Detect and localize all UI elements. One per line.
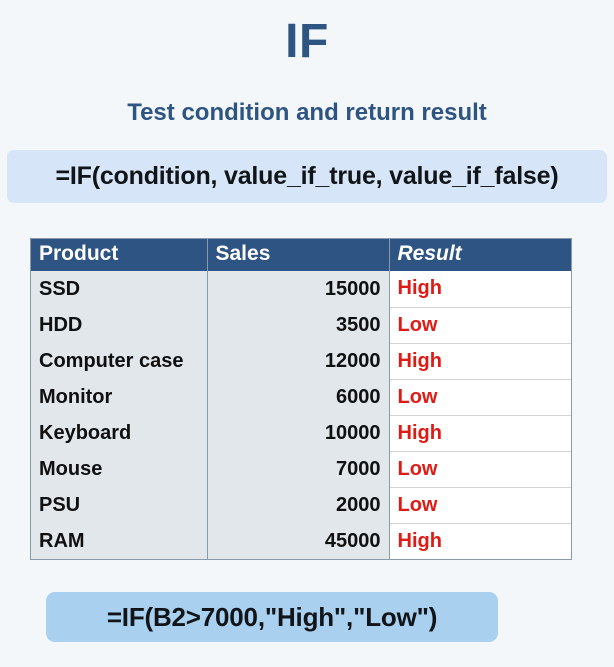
cell-result: High: [389, 523, 571, 559]
cell-result: High: [389, 415, 571, 451]
cell-sales: 7000: [207, 451, 389, 487]
cell-product: PSU: [31, 487, 207, 523]
column-header-result: Result: [389, 239, 571, 271]
table-header-row: Product Sales Result: [31, 239, 571, 271]
cell-result: High: [389, 343, 571, 379]
table-body: SSD 15000 High HDD 3500 Low Computer cas…: [31, 271, 571, 559]
page-subtitle: Test condition and return result: [0, 99, 614, 128]
cell-sales: 12000: [207, 343, 389, 379]
cell-sales: 15000: [207, 271, 389, 307]
column-header-sales: Sales: [207, 239, 389, 271]
cell-product: Computer case: [31, 343, 207, 379]
cell-result: Low: [389, 451, 571, 487]
table-row: PSU 2000 Low: [31, 487, 571, 523]
table-row: Mouse 7000 Low: [31, 451, 571, 487]
table-row: Computer case 12000 High: [31, 343, 571, 379]
table-row: HDD 3500 Low: [31, 307, 571, 343]
table-row: SSD 15000 High: [31, 271, 571, 307]
cell-product: HDD: [31, 307, 207, 343]
table-row: RAM 45000 High: [31, 523, 571, 559]
cell-sales: 45000: [207, 523, 389, 559]
cell-product: Monitor: [31, 379, 207, 415]
cell-result: Low: [389, 307, 571, 343]
syntax-formula-text: =IF(condition, value_if_true, value_if_f…: [56, 162, 559, 191]
cell-sales: 2000: [207, 487, 389, 523]
cell-sales: 6000: [207, 379, 389, 415]
cell-product: SSD: [31, 271, 207, 307]
cell-product: Mouse: [31, 451, 207, 487]
cell-sales: 3500: [207, 307, 389, 343]
example-formula-text: =IF(B2>7000,"High","Low"): [107, 602, 437, 633]
cell-sales: 10000: [207, 415, 389, 451]
table-row: Monitor 6000 Low: [31, 379, 571, 415]
cell-result: High: [389, 271, 571, 307]
data-table: Product Sales Result SSD 15000 High HDD …: [30, 238, 572, 560]
cell-product: RAM: [31, 523, 207, 559]
table-row: Keyboard 10000 High: [31, 415, 571, 451]
syntax-formula-box: =IF(condition, value_if_true, value_if_f…: [7, 150, 607, 203]
page-title: IF: [0, 16, 614, 69]
cell-result: Low: [389, 487, 571, 523]
example-formula-box: =IF(B2>7000,"High","Low"): [46, 592, 498, 642]
cell-result: Low: [389, 379, 571, 415]
cell-product: Keyboard: [31, 415, 207, 451]
column-header-product: Product: [31, 239, 207, 271]
